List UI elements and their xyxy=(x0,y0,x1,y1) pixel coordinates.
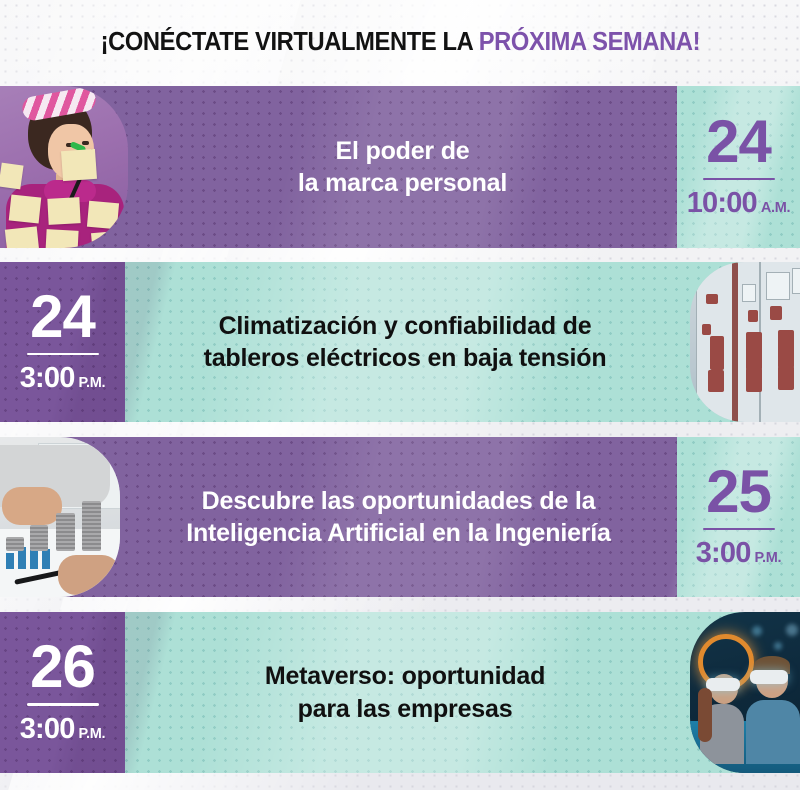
event-time-value: 3:00 xyxy=(696,537,751,570)
event-date-block: 24 3:00 P.M. xyxy=(0,262,125,422)
event-title-line: la marca personal xyxy=(298,167,507,200)
poster-header: ¡CONÉCTATE VIRTUALMENTE LA PRÓXIMA SEMAN… xyxy=(0,0,800,85)
event-time-meridiem: P.M. xyxy=(79,726,106,742)
event-time: 3:00 P.M. xyxy=(696,537,782,570)
webinar-schedule-poster: ¡CONÉCTATE VIRTUALMENTE LA PRÓXIMA SEMAN… xyxy=(0,0,800,790)
page-title-plain: ¡CONÉCTATE VIRTUALMENTE LA xyxy=(100,28,478,56)
event-title: El poder de la marca personal xyxy=(128,86,677,248)
event-row[interactable]: 24 3:00 P.M. Climatización y confiabilid… xyxy=(0,262,800,422)
event-time-meridiem: A.M. xyxy=(761,200,790,216)
event-day-number: 24 xyxy=(706,114,771,169)
electrical-panel-photo xyxy=(690,262,800,422)
event-title-line: tableros eléctricos en baja tensión xyxy=(204,342,607,375)
event-title: Metaverso: oportunidad para las empresas xyxy=(125,612,685,773)
vr-headset-users-photo xyxy=(690,612,800,773)
event-time: 10:00 A.M. xyxy=(687,187,791,220)
event-time-value: 3:00 xyxy=(20,362,75,395)
page-title: ¡CONÉCTATE VIRTUALMENTE LA PRÓXIMA SEMAN… xyxy=(100,28,700,57)
event-title-line: Climatización y confiabilidad de xyxy=(219,310,592,343)
event-time: 3:00 P.M. xyxy=(20,362,106,395)
event-row[interactable]: Descubre las oportunidades de la Intelig… xyxy=(0,437,800,597)
event-day-number: 24 xyxy=(30,289,95,344)
event-time-value: 3:00 xyxy=(20,713,75,746)
business-coins-chart-photo xyxy=(0,437,120,597)
date-divider xyxy=(27,703,99,706)
event-title: Descubre las oportunidades de la Intelig… xyxy=(120,437,677,597)
woman-sticky-notes-photo xyxy=(0,86,128,248)
date-divider xyxy=(27,353,99,356)
event-title-line: para las empresas xyxy=(298,693,513,726)
event-title: Climatización y confiabilidad de tablero… xyxy=(125,262,685,422)
page-title-highlight: PRÓXIMA SEMANA! xyxy=(478,28,699,56)
event-row[interactable]: El poder de la marca personal 24 10:00 A… xyxy=(0,86,800,248)
event-title-line: Inteligencia Artificial en la Ingeniería xyxy=(186,517,611,550)
event-day-number: 26 xyxy=(30,639,95,694)
date-divider xyxy=(703,178,775,181)
event-title-line: El poder de xyxy=(336,135,470,168)
event-time-meridiem: P.M. xyxy=(79,375,106,391)
event-date-block: 26 3:00 P.M. xyxy=(0,612,125,773)
event-time-value: 10:00 xyxy=(687,187,757,220)
event-date-block: 25 3:00 P.M. xyxy=(677,437,800,597)
event-title-line: Metaverso: oportunidad xyxy=(265,660,545,693)
event-day-number: 25 xyxy=(706,464,771,519)
event-date-block: 24 10:00 A.M. xyxy=(677,86,800,248)
event-title-line: Descubre las oportunidades de la xyxy=(202,485,596,518)
date-divider xyxy=(703,528,775,531)
event-time-meridiem: P.M. xyxy=(755,550,782,566)
event-time: 3:00 P.M. xyxy=(20,713,106,746)
event-row[interactable]: 26 3:00 P.M. Metaverso: oportunidad para… xyxy=(0,612,800,773)
